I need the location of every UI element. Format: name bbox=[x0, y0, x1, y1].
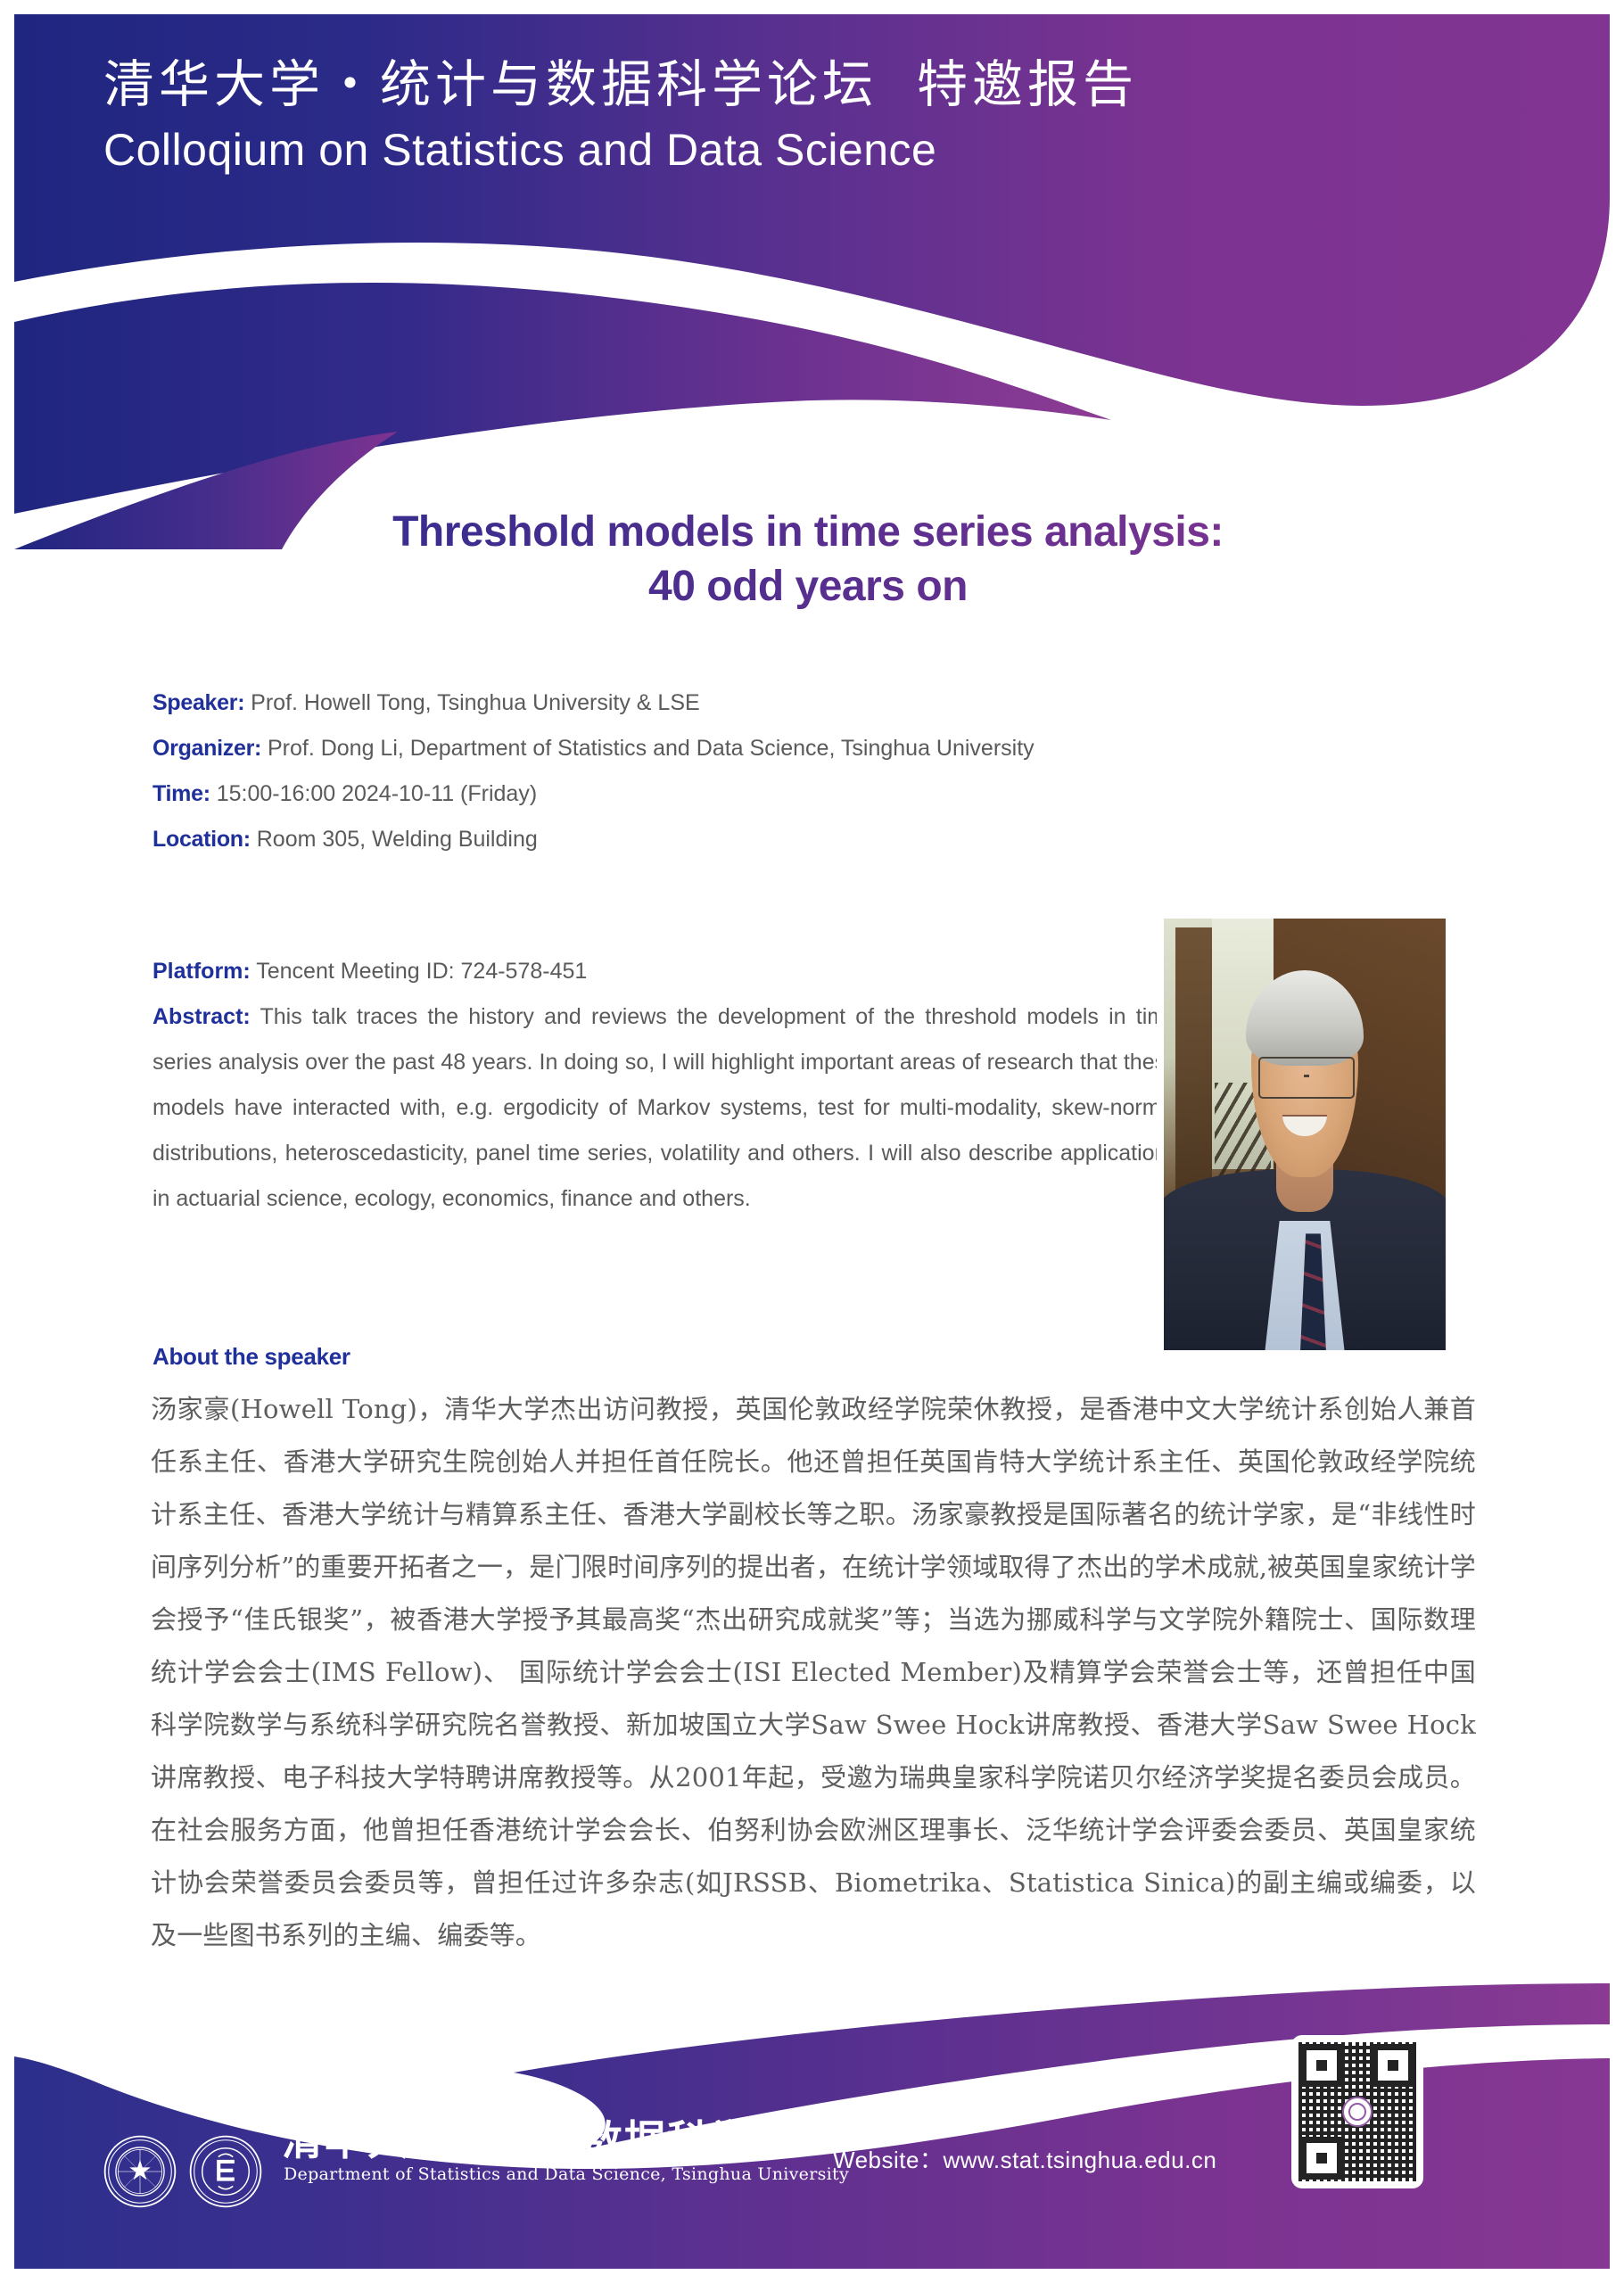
info-row-location: Location: Room 305, Welding Building bbox=[153, 828, 1187, 851]
abstract-value: This talk traces the history and reviews… bbox=[153, 1004, 1178, 1211]
bio-paragraph: 汤家豪(Howell Tong)，清华大学杰出访问教授，英国伦敦政经学院荣休教授… bbox=[151, 1383, 1476, 1962]
info-row-time: Time: 15:00-16:00 2024-10-11 (Friday) bbox=[153, 783, 1187, 805]
time-label: Time: bbox=[153, 781, 210, 806]
footer-website: Website：www.stat.tsinghua.edu.cn bbox=[833, 2142, 1216, 2175]
abstract-label: Abstract: bbox=[153, 1004, 251, 1029]
qr-eye-bottom-left bbox=[1300, 2137, 1343, 2180]
qr-eye-top-right bbox=[1372, 2044, 1414, 2087]
time-value: 15:00-16:00 2024-10-11 (Friday) bbox=[217, 781, 537, 806]
footer-content: 清华大学统计与数据科学系 Department of Statistics an… bbox=[14, 1983, 1610, 2269]
footer-dept-name-cn: 清华大学统计与数据科学系 bbox=[282, 2108, 796, 2167]
info-row-platform: Platform: Tencent Meeting ID: 724-578-45… bbox=[153, 949, 1178, 994]
talk-title-line2: 40 odd years on bbox=[112, 559, 1504, 614]
abstract-paragraph: Abstract: This talk traces the history a… bbox=[153, 994, 1178, 1222]
talk-info-list: Speaker: Prof. Howell Tong, Tsinghua Uni… bbox=[153, 692, 1187, 874]
qr-eye-top-left bbox=[1300, 2044, 1343, 2087]
header-title-cn-part1: 清华大学・统计与数据科学论坛 bbox=[103, 55, 878, 114]
poster-root: 清华大学・统计与数据科学论坛特邀报告 Colloqium on Statisti… bbox=[0, 0, 1624, 2283]
speaker-value: Prof. Howell Tong, Tsinghua University &… bbox=[251, 690, 700, 715]
platform-label: Platform: bbox=[153, 959, 251, 984]
abstract-block: Platform: Tencent Meeting ID: 724-578-45… bbox=[153, 949, 1178, 1222]
header-title-cn-part2: 特邀报告 bbox=[917, 55, 1138, 114]
footer-dept-name-en: Department of Statistics and Data Scienc… bbox=[284, 2164, 849, 2184]
header-title-en: Colloqium on Statistics and Data Science bbox=[103, 122, 1352, 178]
eyeglasses-icon bbox=[1258, 1057, 1355, 1100]
header-banner: 清华大学・统计与数据科学论坛特邀报告 Colloqium on Statisti… bbox=[14, 14, 1610, 549]
page-title: Threshold models in time series analysis… bbox=[112, 505, 1504, 614]
poster-canvas: 清华大学・统计与数据科学论坛特邀报告 Colloqium on Statisti… bbox=[14, 14, 1610, 2269]
website-url[interactable]: www.stat.tsinghua.edu.cn bbox=[943, 2147, 1216, 2173]
organizer-value: Prof. Dong Li, Department of Statistics … bbox=[268, 736, 1035, 761]
dept-statistics-seal-icon bbox=[189, 2135, 262, 2208]
footer-banner: 清华大学统计与数据科学系 Department of Statistics an… bbox=[14, 1983, 1610, 2269]
wechat-qr-code[interactable] bbox=[1291, 2035, 1423, 2188]
header-title-group: 清华大学・统计与数据科学论坛特邀报告 Colloqium on Statisti… bbox=[103, 54, 1352, 177]
about-speaker-heading: About the speaker bbox=[153, 1343, 350, 1371]
location-label: Location: bbox=[153, 827, 251, 852]
header-title-cn: 清华大学・统计与数据科学论坛特邀报告 bbox=[103, 54, 1352, 117]
tsinghua-university-seal-icon bbox=[103, 2135, 177, 2208]
qr-center-logo-icon bbox=[1342, 2097, 1373, 2127]
info-row-organizer: Organizer: Prof. Dong Li, Department of … bbox=[153, 738, 1187, 760]
about-speaker-body: 汤家豪(Howell Tong)，清华大学杰出访问教授，英国伦敦政经学院荣休教授… bbox=[151, 1383, 1476, 1962]
platform-value: Tencent Meeting ID: 724-578-451 bbox=[256, 959, 587, 984]
talk-title-line1: Threshold models in time series analysis… bbox=[392, 508, 1224, 556]
speaker-photo bbox=[1157, 911, 1453, 1357]
speaker-label: Speaker: bbox=[153, 690, 244, 715]
organizer-label: Organizer: bbox=[153, 736, 261, 761]
info-row-speaker: Speaker: Prof. Howell Tong, Tsinghua Uni… bbox=[153, 692, 1187, 714]
website-label: Website： bbox=[833, 2147, 943, 2173]
location-value: Room 305, Welding Building bbox=[257, 827, 538, 852]
